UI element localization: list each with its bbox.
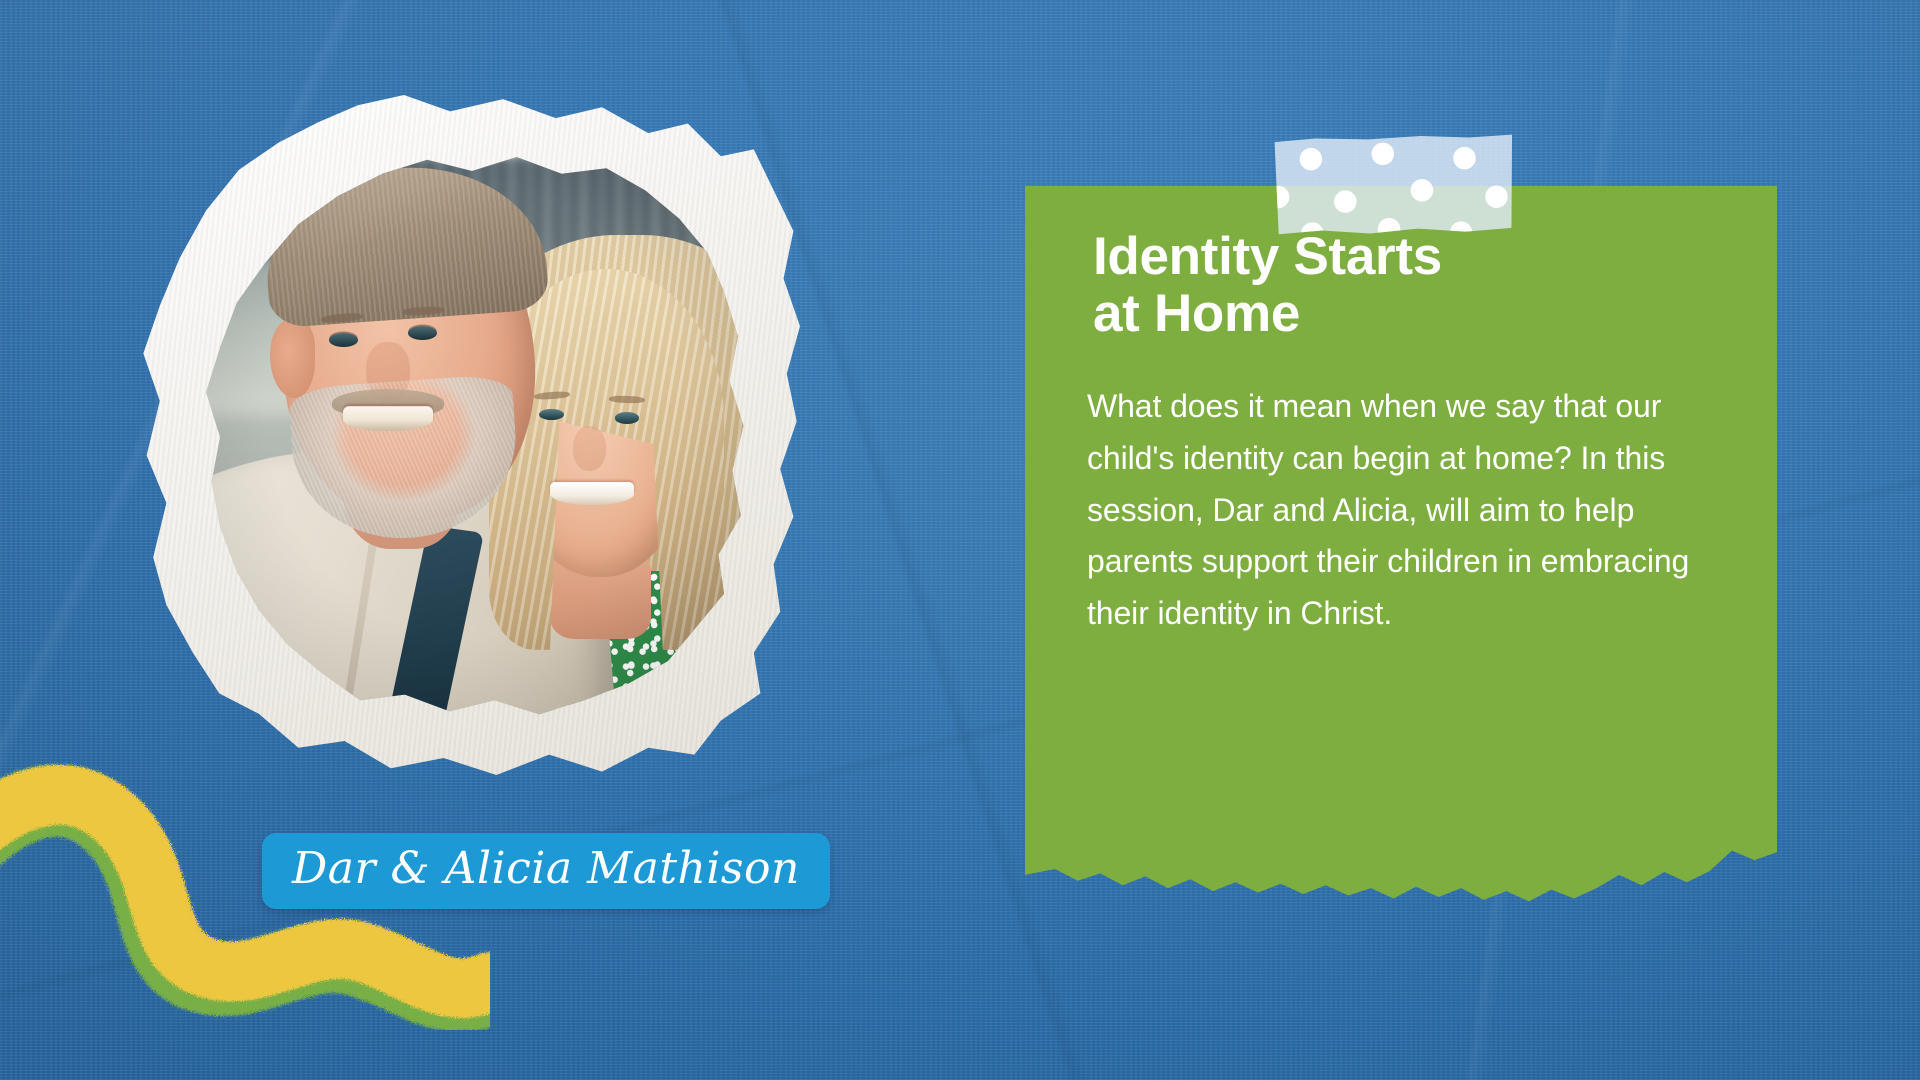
speaker-name-text: Dar & Alicia Mathison [292, 847, 800, 891]
card-title: Identity Starts at Home [1093, 228, 1653, 342]
washi-tape-icon [1272, 134, 1514, 237]
speaker-name-banner: Dar & Alicia Mathison [262, 833, 830, 909]
speaker-photo [140, 95, 800, 775]
card-description: What does it mean when we say that our c… [1087, 381, 1707, 640]
slide-canvas: Dar & Alicia Mathison Identity Starts at… [0, 0, 1920, 1080]
session-info-card: Identity Starts at Home What does it mea… [1025, 186, 1777, 922]
card-title-line-1: Identity Starts [1093, 228, 1653, 285]
card-title-line-2: at Home [1093, 285, 1653, 342]
